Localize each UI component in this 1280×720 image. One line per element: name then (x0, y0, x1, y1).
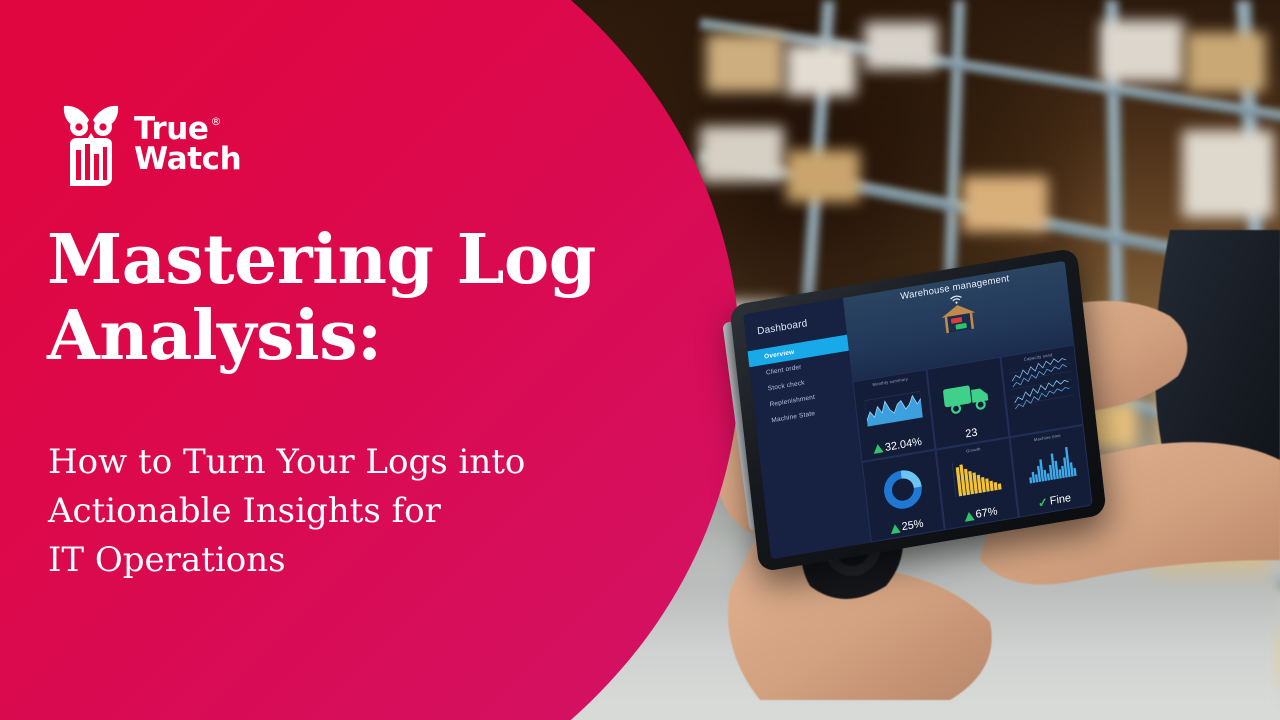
brand-name-line1: True (134, 114, 209, 144)
cardboard-box (864, 22, 938, 70)
up-triangle-icon (873, 444, 884, 455)
tile-value: Fine (1049, 492, 1071, 507)
cardboard-box (786, 44, 856, 96)
brand-logo[interactable]: True ® Watch (60, 100, 241, 188)
donut-chart (865, 454, 940, 526)
up-triangle-icon (963, 511, 974, 522)
dashboard-main: Warehouse management (843, 261, 1093, 543)
tile-utilization[interactable]: 25% (862, 449, 945, 542)
cardboard-box (1182, 130, 1274, 218)
tile-value: 25% (901, 518, 924, 534)
registered-trademark-icon: ® (211, 117, 222, 128)
brand-wordmark: True ® Watch (134, 114, 241, 175)
tile-capacity-used[interactable]: Capacity used (1000, 344, 1083, 437)
subtitle-line-2: Actionable Insights for (48, 487, 668, 536)
truck-icon (930, 361, 1005, 433)
tablet-bezel: Dashboard Overview Client order Stock ch… (729, 248, 1107, 573)
check-icon: ✓ (1037, 495, 1049, 511)
tile-monthly-summary[interactable]: Monthly summary 32.04% (852, 369, 935, 462)
warehouse-icon (938, 300, 979, 336)
cardboard-box (962, 176, 1048, 232)
hero-content: True ® Watch Mastering Log Analysis: How… (0, 0, 660, 720)
subtitle-line-1: How to Turn Your Logs into (48, 438, 668, 487)
brand-name-line2: Watch (134, 144, 241, 174)
cardboard-box (700, 126, 784, 182)
up-triangle-icon (889, 523, 900, 534)
tile-growth[interactable]: Growth (936, 437, 1019, 530)
tile-machine-time[interactable]: Machine time (1010, 425, 1093, 518)
cardboard-box (786, 150, 860, 202)
tile-value: 67% (975, 505, 998, 521)
tile-deliveries[interactable]: 23 (926, 356, 1009, 449)
cardboard-box (706, 34, 784, 92)
headline-line-2: Analysis: (47, 298, 647, 374)
cardboard-box (1100, 20, 1184, 82)
subtitle-line-3: IT Operations (48, 536, 668, 585)
owl-logo-icon (60, 100, 122, 188)
page-subtitle: How to Turn Your Logs into Actionable In… (48, 438, 668, 585)
cardboard-box (1186, 32, 1266, 92)
tablet-screen[interactable]: Dashboard Overview Client order Stock ch… (743, 261, 1092, 560)
tile-value: 23 (965, 426, 978, 440)
tile-value-row: 23 (965, 426, 978, 440)
tablet-device: Dashboard Overview Client order Stock ch… (729, 248, 1107, 573)
headline-line-1: Mastering Log (47, 222, 647, 298)
page-title: Mastering Log Analysis: (47, 222, 647, 374)
